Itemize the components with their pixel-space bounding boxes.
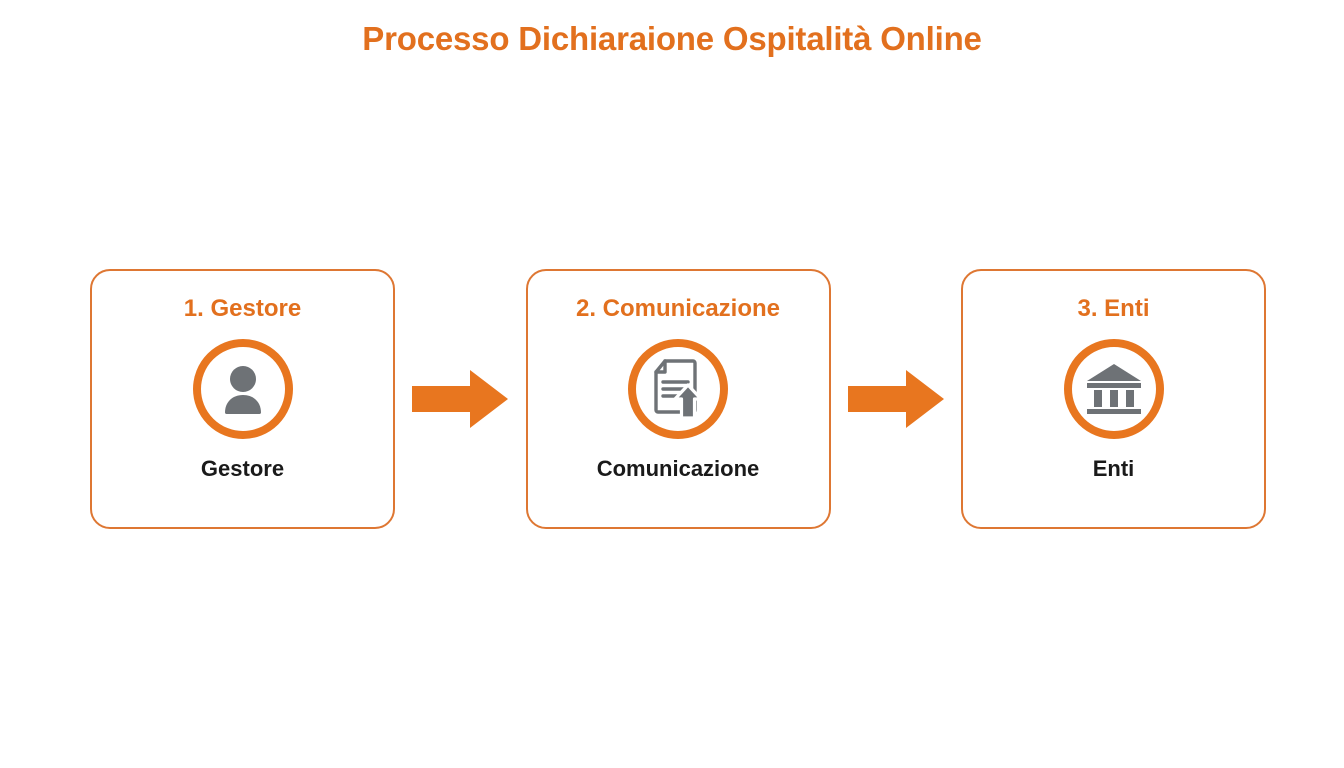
process-step-card-comunicazione[interactable]: 2. Comunicazione Comunic	[526, 269, 831, 529]
flow-connector-2	[846, 368, 946, 430]
step-heading: 1. Gestore	[184, 296, 301, 322]
step-icon-ring	[193, 339, 293, 439]
step-heading: 3. Enti	[1077, 296, 1149, 322]
slide-canvas: Processo Dichiaraione Ospitalità Online …	[0, 0, 1344, 768]
step-icon-ring	[628, 339, 728, 439]
person-icon	[212, 358, 274, 420]
bank-institution-icon	[1084, 362, 1144, 416]
process-flow-diagram: 1. Gestore Gestore 2. Comunicaz	[90, 268, 1266, 530]
arrow-right-icon	[412, 370, 508, 428]
flow-connector-1	[410, 368, 510, 430]
process-step-card-enti[interactable]: 3. Enti Enti	[961, 269, 1266, 529]
step-label: Enti	[1093, 457, 1135, 481]
step-label: Gestore	[201, 457, 284, 481]
step-icon-ring	[1064, 339, 1164, 439]
arrow-right-icon	[848, 370, 944, 428]
process-step-card-gestore[interactable]: 1. Gestore Gestore	[90, 269, 395, 529]
document-upload-icon	[649, 358, 707, 420]
step-heading: 2. Comunicazione	[576, 296, 780, 322]
page-title: Processo Dichiaraione Ospitalità Online	[0, 20, 1344, 58]
step-label: Comunicazione	[597, 457, 760, 481]
